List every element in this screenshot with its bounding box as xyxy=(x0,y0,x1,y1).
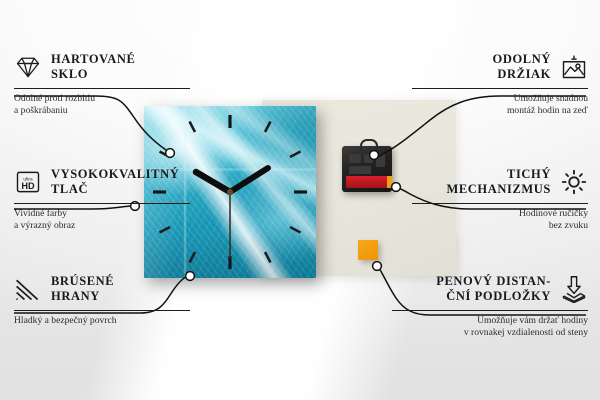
feature-title: BRÚSENÉ HRANY xyxy=(51,274,114,304)
feature-description: Umožňuje vám držať hodiny v rovnakej vzd… xyxy=(392,315,588,340)
battery-terminal xyxy=(387,176,392,188)
feature-title: VYSOKOKVALITNÝ TLAČ xyxy=(51,167,179,197)
feature-header: TICHÝ MECHANIZMUS xyxy=(412,165,588,199)
feature-description: Hladký a bezpečný povrch xyxy=(14,315,190,327)
feature-high-quality-print: ultra HD VYSOKOKVALITNÝ TLAČ Vividné far… xyxy=(14,165,190,233)
feature-rule xyxy=(14,88,190,89)
svg-text:HD: HD xyxy=(21,181,35,191)
feature-header: PENOVÝ DISTAN- ČNÍ PODLOŽKY xyxy=(392,272,588,306)
feature-rule xyxy=(14,203,190,204)
mechanism-battery xyxy=(346,176,388,188)
feature-rule xyxy=(412,88,588,89)
feature-rule xyxy=(14,310,190,311)
feature-title: TICHÝ MECHANIZMUS xyxy=(446,167,551,197)
feature-header: ultra HD VYSOKOKVALITNÝ TLAČ xyxy=(14,165,190,199)
feature-description: Vividné farby a výrazný obraz xyxy=(14,208,190,233)
feature-durable-hanger: ODOLNÝ DRŽIAK Umožňuje snadnou montáž ho… xyxy=(412,50,588,118)
foam-pad-arrow-icon xyxy=(560,275,588,303)
feature-title: HARTOVANÉ SKLO xyxy=(51,52,135,82)
mechanism-hanger-hook xyxy=(360,139,378,151)
feature-tempered-glass: HARTOVANÉ SKLO Odolné proti rozbitiu a p… xyxy=(14,50,190,118)
foam-spacer-pad xyxy=(358,240,378,260)
feature-header: HARTOVANÉ SKLO xyxy=(14,50,190,84)
feature-description: Odolné proti rozbitiu a poškrábaniu xyxy=(14,93,190,118)
infographic-canvas: HARTOVANÉ SKLO Odolné proti rozbitiu a p… xyxy=(0,0,600,400)
mechanism-detail xyxy=(349,154,361,163)
feature-title: PENOVÝ DISTAN- ČNÍ PODLOŽKY xyxy=(436,274,551,304)
feature-title: ODOLNÝ DRŽIAK xyxy=(493,52,551,82)
hatched-edge-icon xyxy=(14,275,42,303)
feature-description: Umožňuje snadnou montáž hodin na zeď xyxy=(412,93,588,118)
diamond-icon xyxy=(14,53,42,81)
feature-rule xyxy=(412,203,588,204)
mechanism-detail xyxy=(349,166,371,174)
feature-silent-mechanism: TICHÝ MECHANIZMUS Hodinové ručičky bez z… xyxy=(412,165,588,233)
mechanism-detail xyxy=(376,154,385,167)
feature-header: BRÚSENÉ HRANY xyxy=(14,272,190,306)
feature-rule xyxy=(392,310,588,311)
product-photo xyxy=(144,88,456,276)
ultra-hd-icon: ultra HD xyxy=(14,168,42,196)
picture-hanger-icon xyxy=(560,53,588,81)
feature-description: Hodinové ručičky bez zvuku xyxy=(412,208,588,233)
mechanism-detail xyxy=(364,154,373,163)
feature-foam-spacers: PENOVÝ DISTAN- ČNÍ PODLOŽKY Umožňuje vám… xyxy=(392,272,588,340)
feature-polished-edges: BRÚSENÉ HRANY Hladký a bezpečný povrch xyxy=(14,272,190,327)
gear-icon xyxy=(560,168,588,196)
feature-header: ODOLNÝ DRŽIAK xyxy=(412,50,588,84)
clock-mechanism xyxy=(342,146,392,192)
